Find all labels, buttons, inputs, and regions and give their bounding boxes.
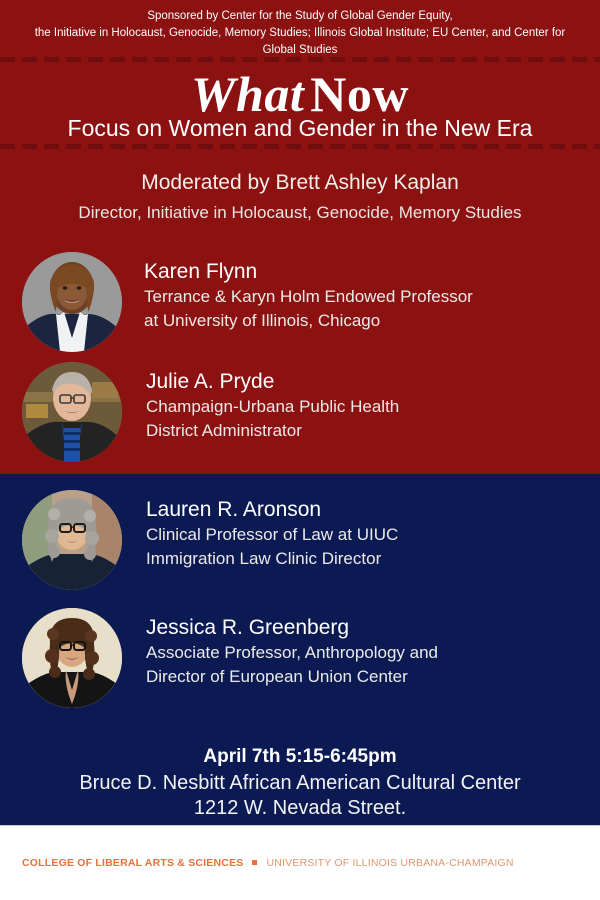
sponsor-line-2: the Initiative in Holocaust, Genocide, M…	[8, 25, 592, 42]
university-name: UNIVERSITY OF ILLINOIS URBANA-CHAMPAIGN	[266, 857, 513, 869]
speaker-avatar	[22, 362, 122, 462]
speaker-title-line-2: Immigration Law Clinic Director	[146, 547, 398, 571]
college-name: COLLEGE OF LIBERAL ARTS & SCIENCES	[22, 857, 243, 869]
speaker-name: Julie A. Pryde	[146, 368, 399, 395]
event-datetime: April 7th 5:15-6:45pm	[0, 744, 600, 769]
speaker-entry: Julie A. Pryde Champaign-Urbana Public H…	[22, 362, 399, 462]
speaker-text: Lauren R. Aronson Clinical Professor of …	[122, 490, 398, 571]
portrait-julie-pryde-icon	[22, 362, 122, 462]
speaker-title-line-2: Director of European Union Center	[146, 665, 438, 689]
speaker-title-line-1: Terrance & Karyn Holm Endowed Professor	[144, 285, 473, 309]
speaker-name: Jessica R. Greenberg	[146, 614, 438, 641]
portrait-jessica-greenberg-icon	[22, 608, 122, 708]
event-venue: Bruce D. Nesbitt African American Cultur…	[0, 770, 600, 796]
dashed-divider-bottom	[0, 144, 600, 149]
speaker-text: Julie A. Pryde Champaign-Urbana Public H…	[122, 362, 399, 443]
event-address: 1212 W. Nevada Street.	[0, 795, 600, 821]
poster-title: WhatNow	[0, 68, 600, 120]
footer: COLLEGE OF LIBERAL ARTS & SCIENCES UNIVE…	[0, 825, 600, 900]
speaker-entry: Karen Flynn Terrance & Karyn Holm Endowe…	[22, 252, 473, 352]
speaker-text: Karen Flynn Terrance & Karyn Holm Endowe…	[122, 252, 473, 333]
speaker-name: Lauren R. Aronson	[146, 496, 398, 523]
university-lockup: COLLEGE OF LIBERAL ARTS & SCIENCES UNIVE…	[22, 857, 514, 869]
portrait-karen-flynn-icon	[22, 252, 122, 352]
dashed-divider-top	[0, 57, 600, 62]
speaker-title-line-2: District Administrator	[146, 419, 399, 443]
speaker-avatar	[22, 490, 122, 590]
speaker-avatar	[22, 252, 122, 352]
sponsor-line-1: Sponsored by Center for the Study of Glo…	[8, 8, 592, 25]
speaker-avatar	[22, 608, 122, 708]
speaker-title-line-2: at University of Illinois, Chicago	[144, 309, 473, 333]
speaker-entry: Lauren R. Aronson Clinical Professor of …	[22, 490, 398, 590]
sponsor-credit: Sponsored by Center for the Study of Glo…	[8, 8, 592, 59]
speaker-entry: Jessica R. Greenberg Associate Professor…	[22, 608, 438, 708]
speaker-title-line-1: Clinical Professor of Law at UIUC	[146, 523, 398, 547]
poster-subtitle: Focus on Women and Gender in the New Era	[0, 114, 600, 142]
separator-square-icon	[252, 860, 257, 865]
moderator-role: Director, Initiative in Holocaust, Genoc…	[0, 202, 600, 224]
speaker-title-line-1: Associate Professor, Anthropology and	[146, 641, 438, 665]
event-poster: Sponsored by Center for the Study of Glo…	[0, 0, 600, 900]
speaker-name: Karen Flynn	[144, 258, 473, 285]
portrait-lauren-aronson-icon	[22, 490, 122, 590]
speaker-text: Jessica R. Greenberg Associate Professor…	[122, 608, 438, 689]
moderator-name: Moderated by Brett Ashley Kaplan	[0, 170, 600, 196]
speaker-title-line-1: Champaign-Urbana Public Health	[146, 395, 399, 419]
